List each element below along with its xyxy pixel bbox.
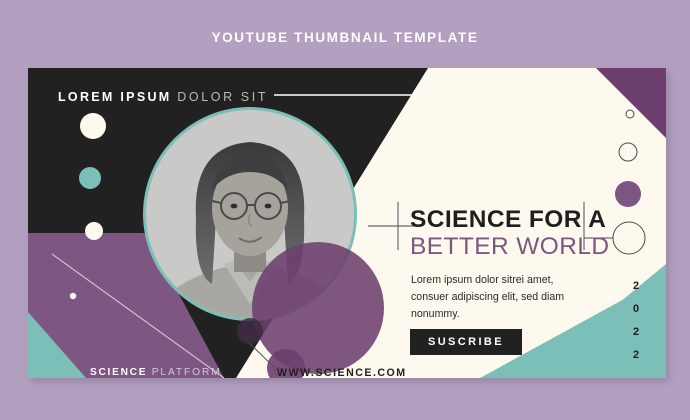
- kicker-heading: LOREM IPSUM DOLOR SIT: [58, 90, 268, 104]
- year-stack: 2 0 2 2: [628, 275, 644, 367]
- year-digit: 0: [628, 298, 644, 321]
- brand-lockup: SCIENCE PLATFORM: [90, 367, 222, 378]
- year-digit: 2: [628, 275, 644, 298]
- page-title: YOUTUBE THUMBNAIL TEMPLATE: [0, 30, 690, 45]
- headline: SCIENCE FOR A BETTER WORLD: [410, 207, 620, 261]
- brand-bold: SCIENCE: [90, 367, 147, 378]
- year-digit: 2: [628, 344, 644, 367]
- kicker-bold: LOREM IPSUM: [58, 90, 172, 104]
- headline-line-1: SCIENCE FOR A: [410, 207, 620, 233]
- kicker-light: DOLOR SIT: [177, 90, 268, 104]
- website-url: WWW.SCIENCE.COM: [277, 367, 407, 378]
- brand-light: PLATFORM: [152, 367, 222, 378]
- headline-line-2: BETTER WORLD: [410, 233, 620, 260]
- thumbnail-card: LOREM IPSUM DOLOR SIT SCIENCE FOR A BETT…: [28, 68, 666, 378]
- body-copy: Lorem ipsum dolor sitrei amet, consuer a…: [411, 272, 571, 323]
- subscribe-button[interactable]: SUSCRIBE: [410, 329, 522, 355]
- year-digit: 2: [628, 321, 644, 344]
